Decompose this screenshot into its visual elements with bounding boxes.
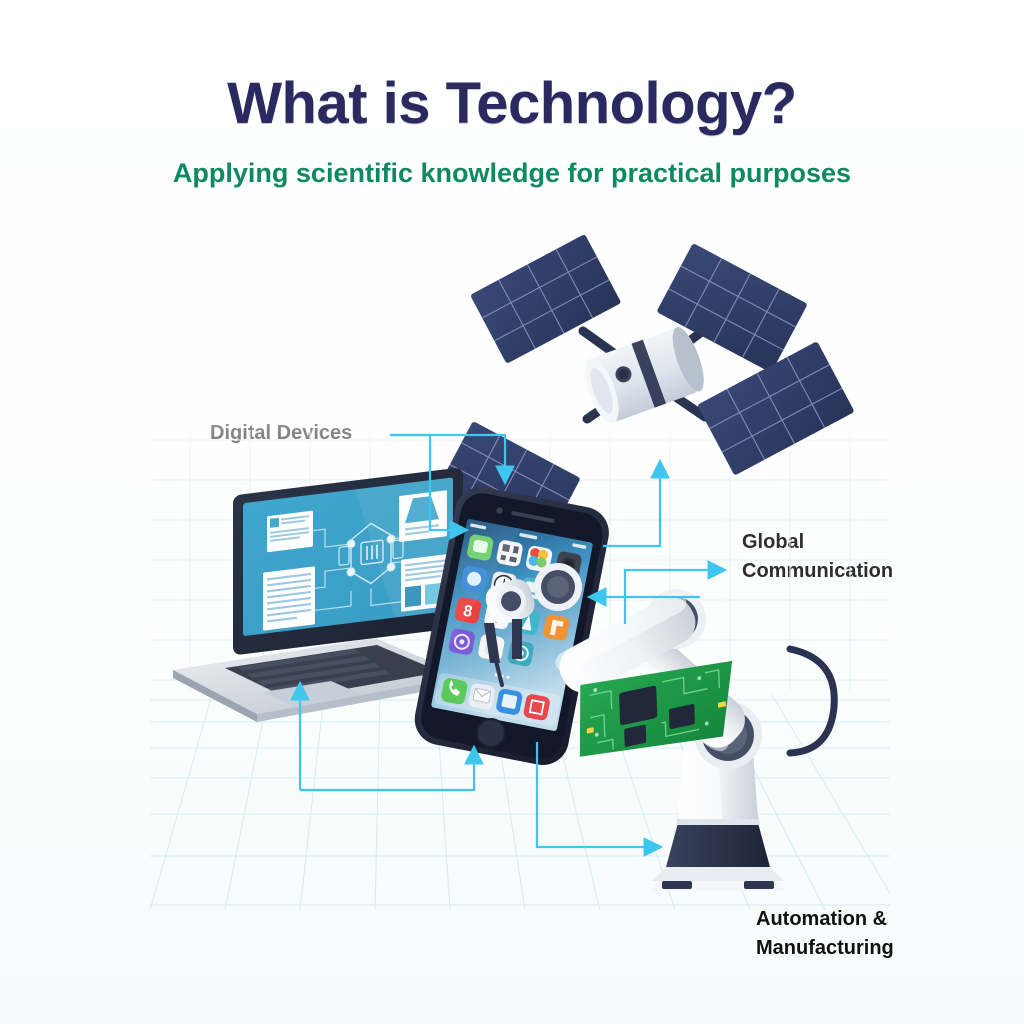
connector-baseline-to-robot [537, 742, 660, 847]
connector-arrows [0, 0, 1024, 1024]
connector-feed-to-satellite [603, 462, 660, 546]
illustration-canvas: 8 [0, 0, 1024, 1024]
connector-baseline-to-phone [300, 748, 474, 790]
connector-digital-to-phone [390, 435, 466, 530]
connector-digital-to-satellite [390, 435, 505, 482]
